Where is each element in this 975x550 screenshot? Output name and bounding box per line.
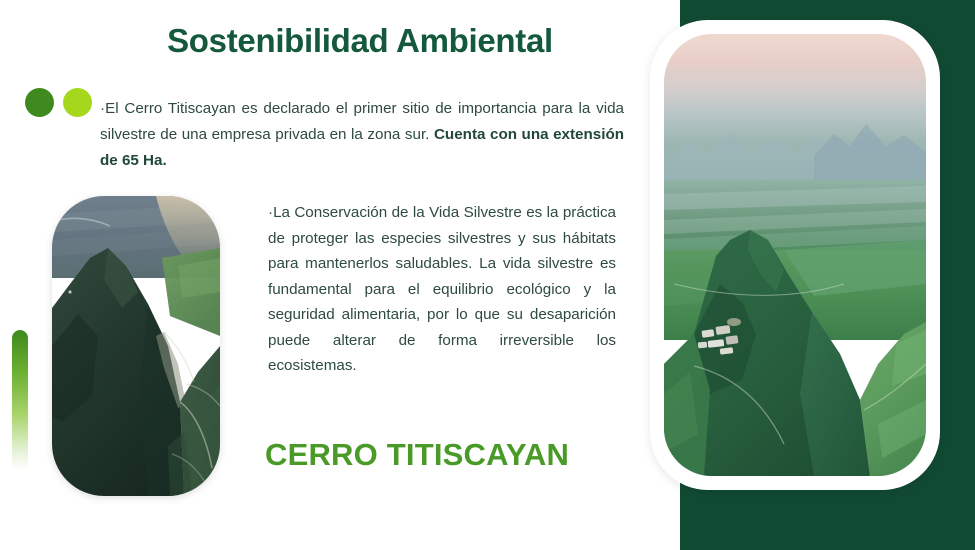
- green-dot-light-icon: [63, 88, 92, 117]
- green-dot-dark-icon: [25, 88, 54, 117]
- right-photo-artwork: [664, 34, 926, 476]
- left-aerial-photo: [52, 196, 220, 496]
- green-accent-bar: [12, 330, 28, 470]
- left-photo-artwork: [52, 196, 220, 496]
- slide-title: Sostenibilidad Ambiental: [100, 22, 620, 60]
- decorative-dots: [25, 88, 92, 117]
- right-aerial-photo: [664, 34, 926, 476]
- paragraph-one: ·El Cerro Titiscayan es declarado el pri…: [100, 96, 624, 174]
- paragraph-two-text: La Conservación de la Vida Silvestre es …: [268, 204, 616, 374]
- photo-caption: CERRO TITISCAYAN: [265, 437, 569, 473]
- slide-canvas: Sostenibilidad Ambiental ·El Cerro Titis…: [0, 0, 975, 550]
- paragraph-two: ·La Conservación de la Vida Silvestre es…: [268, 200, 616, 379]
